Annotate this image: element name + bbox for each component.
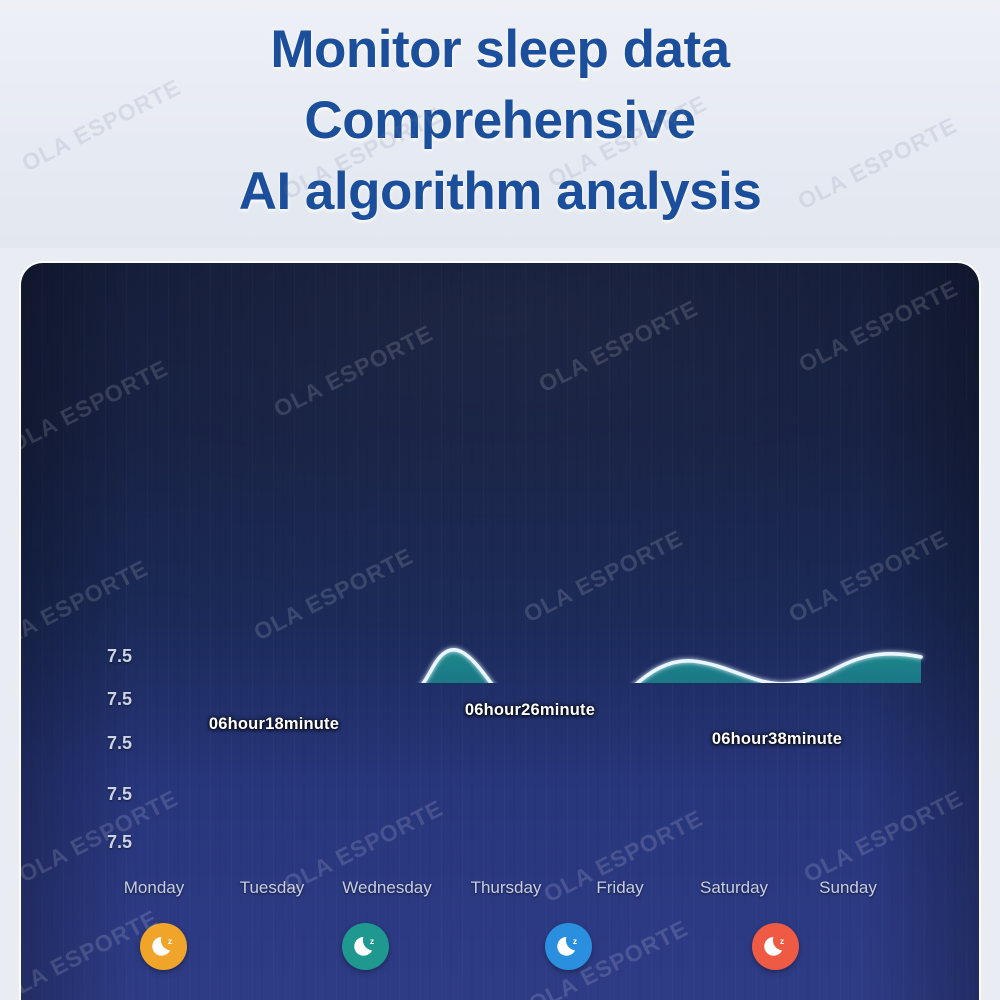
chart-area-total-sleep <box>136 650 921 683</box>
moon-z-glyph: z <box>554 932 584 962</box>
x-tick-label-tuesday: Tuesday <box>240 878 305 898</box>
svg-text:z: z <box>572 936 576 946</box>
watermark: OLA ESPORTE <box>21 785 183 889</box>
y-tick-label: 7.5 <box>107 832 132 853</box>
moon-z-glyph: z <box>351 932 381 962</box>
chart-annotation: 06hour38minute <box>712 730 842 749</box>
chart-line-total-sleep <box>136 650 921 683</box>
sleep-chart-svg <box>21 263 979 683</box>
x-tick-label-sunday: Sunday <box>819 878 877 898</box>
card-fall-asleep[interactable]: z Fall asleep 06-08 23:15 Record every n… <box>136 923 326 1000</box>
moon-z-glyph: z <box>761 932 791 962</box>
watermark: OLA ESPORTE <box>799 785 967 889</box>
svg-text:z: z <box>779 936 783 946</box>
page-header: Monitor sleep data Comprehensive AI algo… <box>0 0 1000 248</box>
svg-text:z: z <box>167 936 171 946</box>
x-tick-label-friday: Friday <box>596 878 643 898</box>
headline-line-1: Monitor sleep data <box>270 14 729 85</box>
sleep-chart: 06hour18minute 06hour26minute 06hour38mi… <box>21 263 979 663</box>
moon-z-icon: z <box>752 923 799 970</box>
sleep-stage-cards: z Fall asleep 06-08 23:15 Record every n… <box>21 923 979 1000</box>
svg-text:z: z <box>369 936 373 946</box>
chart-annotation: 06hour18minute <box>209 715 339 734</box>
y-tick-label: 7.5 <box>107 689 132 710</box>
moon-z-icon: z <box>545 923 592 970</box>
x-tick-label-thursday: Thursday <box>471 878 542 898</box>
y-tick-label: 7.5 <box>107 733 132 754</box>
card-deep-sleep[interactable]: z Deep sleep 1Hour24minute Deep sleep pa… <box>541 923 746 1000</box>
chart-x-axis: Monday Tuesday Wednesday Thursday Friday… <box>21 878 979 908</box>
card-wake-up[interactable]: z Wake up 06-09 7:45 Record every mornin… <box>748 923 928 1000</box>
headline-line-3: AI algorithm analysis <box>239 156 762 227</box>
moon-z-icon: z <box>140 923 187 970</box>
y-tick-label: 7.5 <box>107 646 132 667</box>
headline-line-2: Comprehensive <box>304 85 695 156</box>
sleep-dashboard-panel: 06hour18minute 06hour26minute 06hour38mi… <box>21 263 979 1000</box>
x-tick-label-wednesday: Wednesday <box>342 878 431 898</box>
moon-z-glyph: z <box>149 932 179 962</box>
card-light-sleep[interactable]: z Light sleep 4Hour37minute Light sleep … <box>338 923 538 1000</box>
x-tick-label-monday: Monday <box>124 878 184 898</box>
y-tick-label: 7.5 <box>107 784 132 805</box>
moon-z-icon: z <box>342 923 389 970</box>
x-tick-label-saturday: Saturday <box>700 878 768 898</box>
chart-annotation: 06hour26minute <box>465 701 595 720</box>
